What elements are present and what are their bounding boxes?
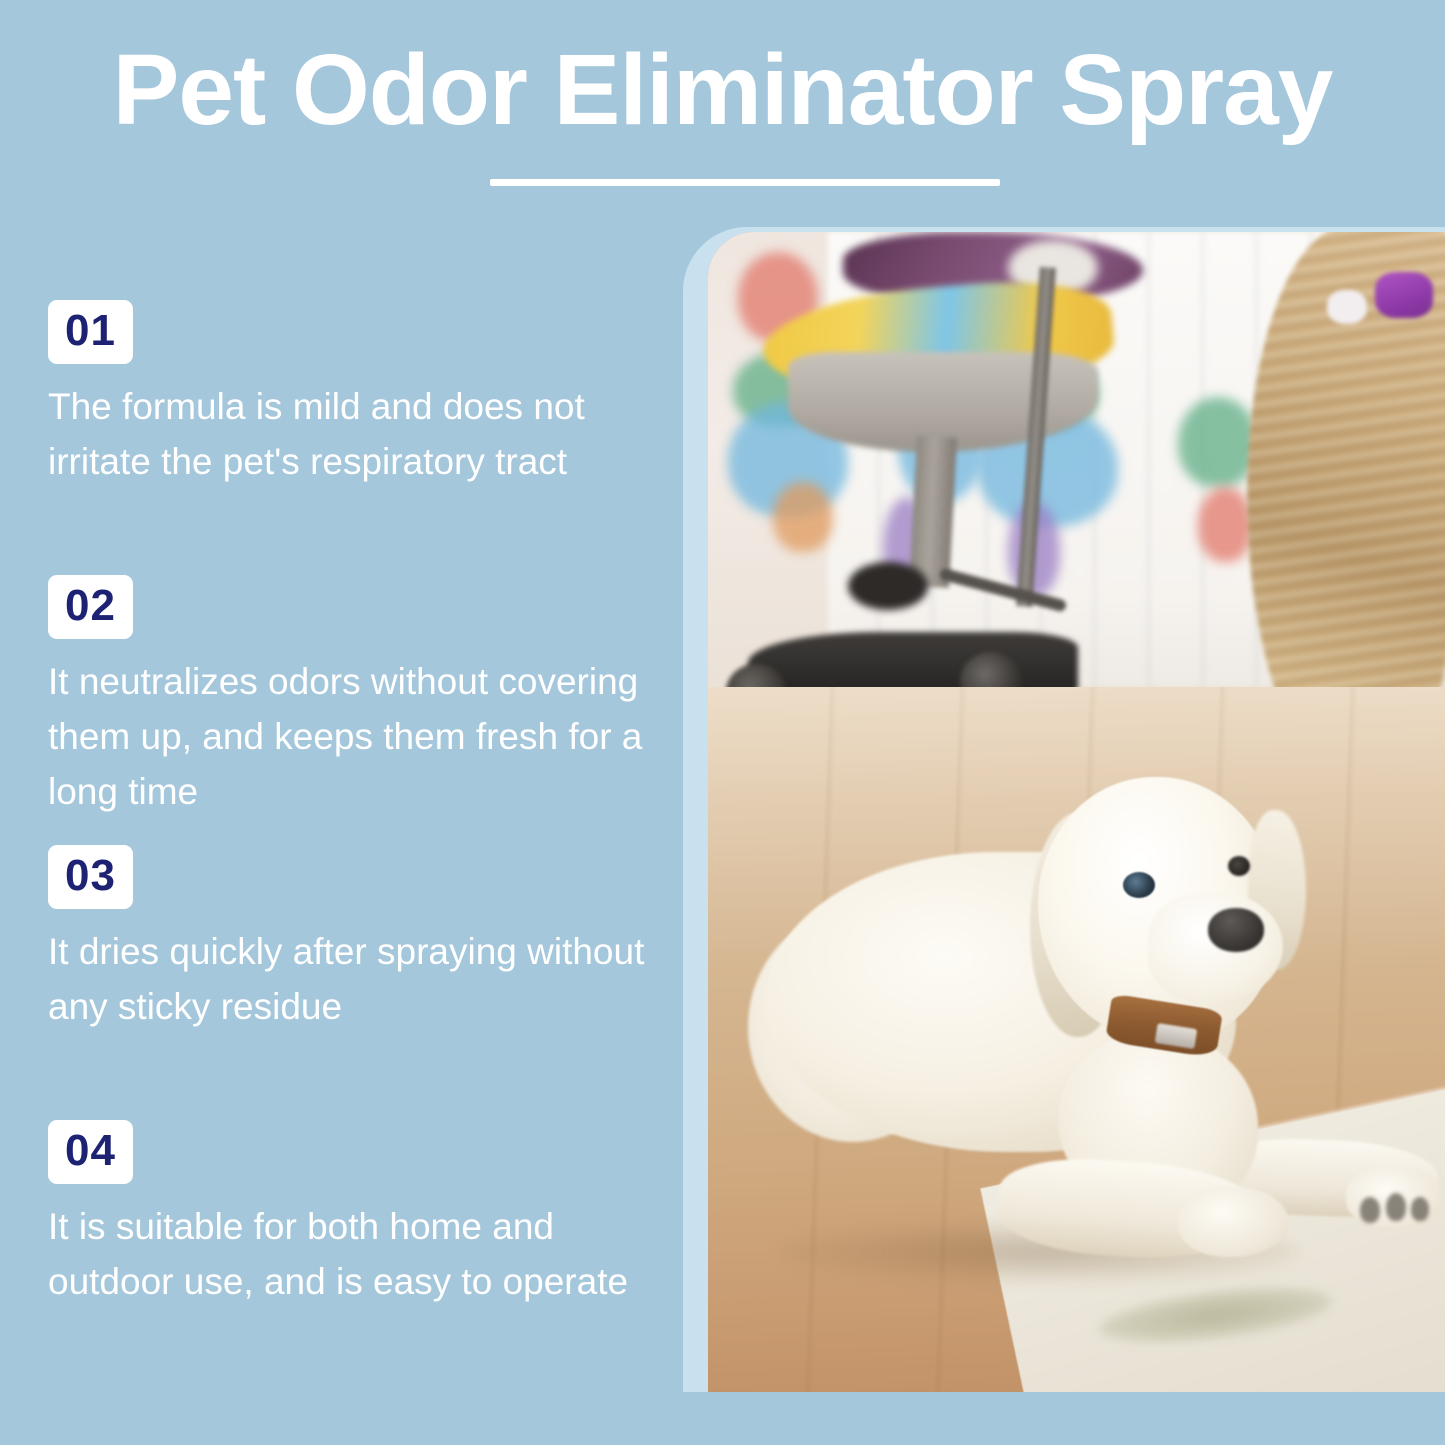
feature-item-04: 04 It is suitable for both home and outd…	[48, 1120, 663, 1310]
feature-number-badge: 02	[48, 575, 133, 639]
header: Pet Odor Eliminator Spray	[0, 0, 1445, 210]
feature-number-badge: 03	[48, 845, 133, 909]
puppy-eye-far	[1228, 856, 1250, 876]
chair-hanging-toy	[848, 562, 928, 610]
feature-item-02: 02 It neutralizes odors without covering…	[48, 575, 663, 819]
title-underline	[490, 179, 1000, 186]
feature-item-01: 01 The formula is mild and does not irri…	[48, 300, 663, 490]
puppy-paw-far	[1346, 1167, 1440, 1227]
infographic-page: Pet Odor Eliminator Spray 01 The formula…	[0, 0, 1445, 1445]
feature-description: It dries quickly after spraying without …	[48, 925, 663, 1035]
product-photo	[708, 232, 1445, 1392]
puppy-muzzle	[1148, 892, 1283, 1002]
photo-frame	[683, 227, 1445, 1392]
feature-item-03: 03 It dries quickly after spraying witho…	[48, 845, 663, 1035]
puppy-nose	[1208, 908, 1264, 952]
puppy-paw-near	[1178, 1187, 1288, 1257]
feature-description: It is suitable for both home and outdoor…	[48, 1200, 663, 1310]
hair-tie-white	[1327, 290, 1367, 324]
puppy-eye-near	[1123, 872, 1155, 898]
hair-tie-purple	[1375, 272, 1433, 318]
feature-description: It neutralizes odors without covering th…	[48, 655, 663, 819]
feature-description: The formula is mild and does not irritat…	[48, 380, 663, 490]
feature-number-badge: 04	[48, 1120, 133, 1184]
feature-number-badge: 01	[48, 300, 133, 364]
chair-column	[909, 436, 957, 588]
page-title: Pet Odor Eliminator Spray	[0, 38, 1445, 143]
